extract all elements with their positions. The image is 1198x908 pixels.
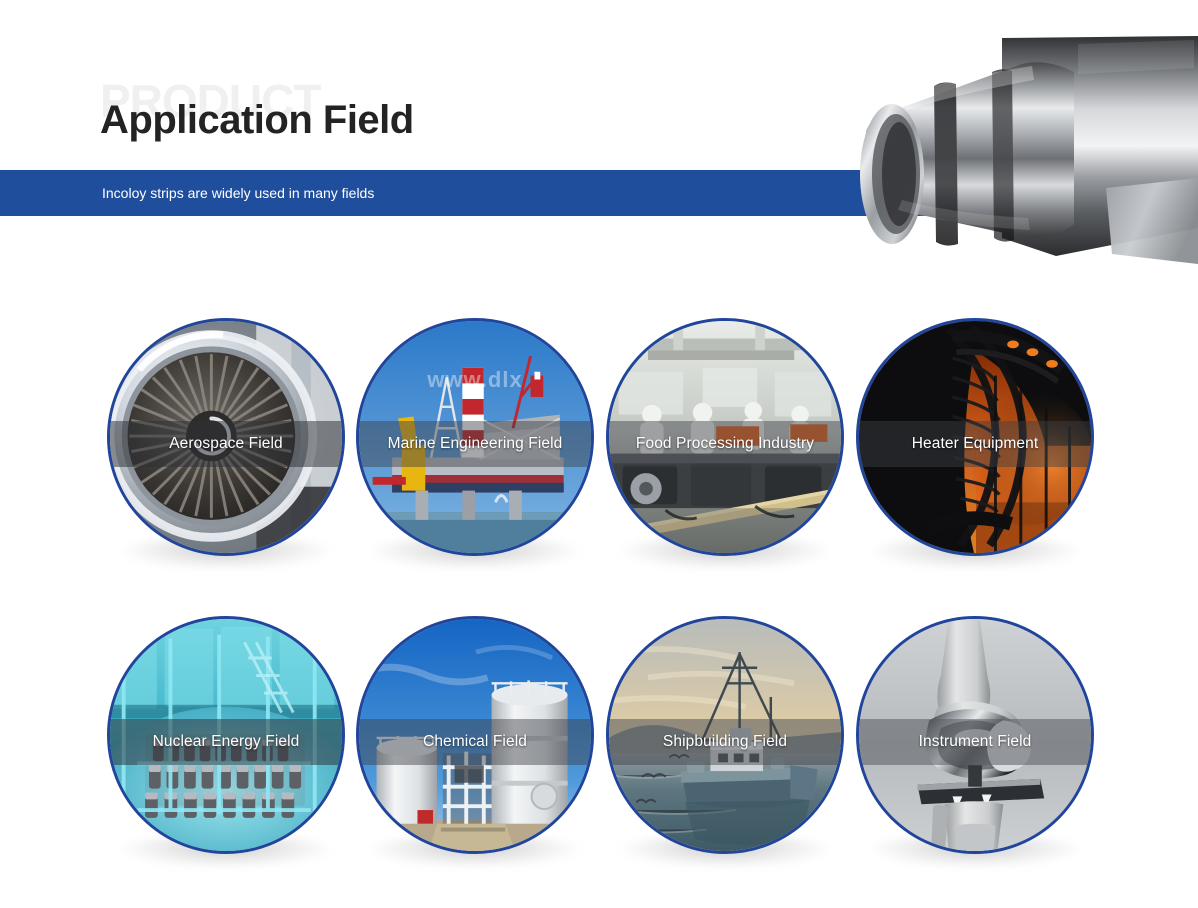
field-label: Aerospace Field <box>169 435 283 453</box>
field-circle[interactable]: Heater Equipment <box>856 318 1094 556</box>
field-circle[interactable]: Instrument Field <box>856 616 1094 854</box>
field-card-instrument[interactable]: Instrument Field <box>856 616 1094 854</box>
field-circle[interactable]: www.dlx Marine Engineering Field <box>356 318 594 556</box>
field-circle[interactable]: Chemical Field <box>356 616 594 854</box>
field-label: Nuclear Energy Field <box>153 733 300 751</box>
field-card-aerospace[interactable]: Aerospace Field <box>107 318 345 556</box>
field-label-band: Instrument Field <box>859 719 1091 765</box>
field-circle[interactable]: Shipbuilding Field <box>606 616 844 854</box>
field-label-band: Shipbuilding Field <box>609 719 841 765</box>
field-card-shipbuilding[interactable]: Shipbuilding Field <box>606 616 844 854</box>
image-watermark: www.dlx <box>427 367 522 393</box>
field-label-band: Heater Equipment <box>859 421 1091 467</box>
field-card-food[interactable]: Food Processing Industry <box>606 318 844 556</box>
field-label-band: Chemical Field <box>359 719 591 765</box>
field-label: Marine Engineering Field <box>388 435 563 453</box>
field-label-band: Food Processing Industry <box>609 421 841 467</box>
field-label-band: Marine Engineering Field <box>359 421 591 467</box>
field-card-marine[interactable]: www.dlx Marine Engineering Field <box>356 318 594 556</box>
field-label-band: Nuclear Energy Field <box>110 719 342 765</box>
field-card-heater[interactable]: Heater Equipment <box>856 318 1094 556</box>
field-label: Instrument Field <box>919 733 1032 751</box>
field-label: Chemical Field <box>423 733 527 751</box>
field-card-chemical[interactable]: Chemical Field <box>356 616 594 854</box>
field-label-band: Aerospace Field <box>110 421 342 467</box>
application-field-page: PRODUCT Application Field Incoloy strips… <box>0 0 1198 908</box>
field-card-nuclear[interactable]: Nuclear Energy Field <box>107 616 345 854</box>
application-field-grid: Aerospace Field <box>0 0 1198 908</box>
field-circle[interactable]: Aerospace Field <box>107 318 345 556</box>
field-label: Heater Equipment <box>912 435 1039 453</box>
field-label: Food Processing Industry <box>636 435 814 453</box>
field-circle[interactable]: Food Processing Industry <box>606 318 844 556</box>
field-circle[interactable]: Nuclear Energy Field <box>107 616 345 854</box>
field-label: Shipbuilding Field <box>663 733 787 751</box>
